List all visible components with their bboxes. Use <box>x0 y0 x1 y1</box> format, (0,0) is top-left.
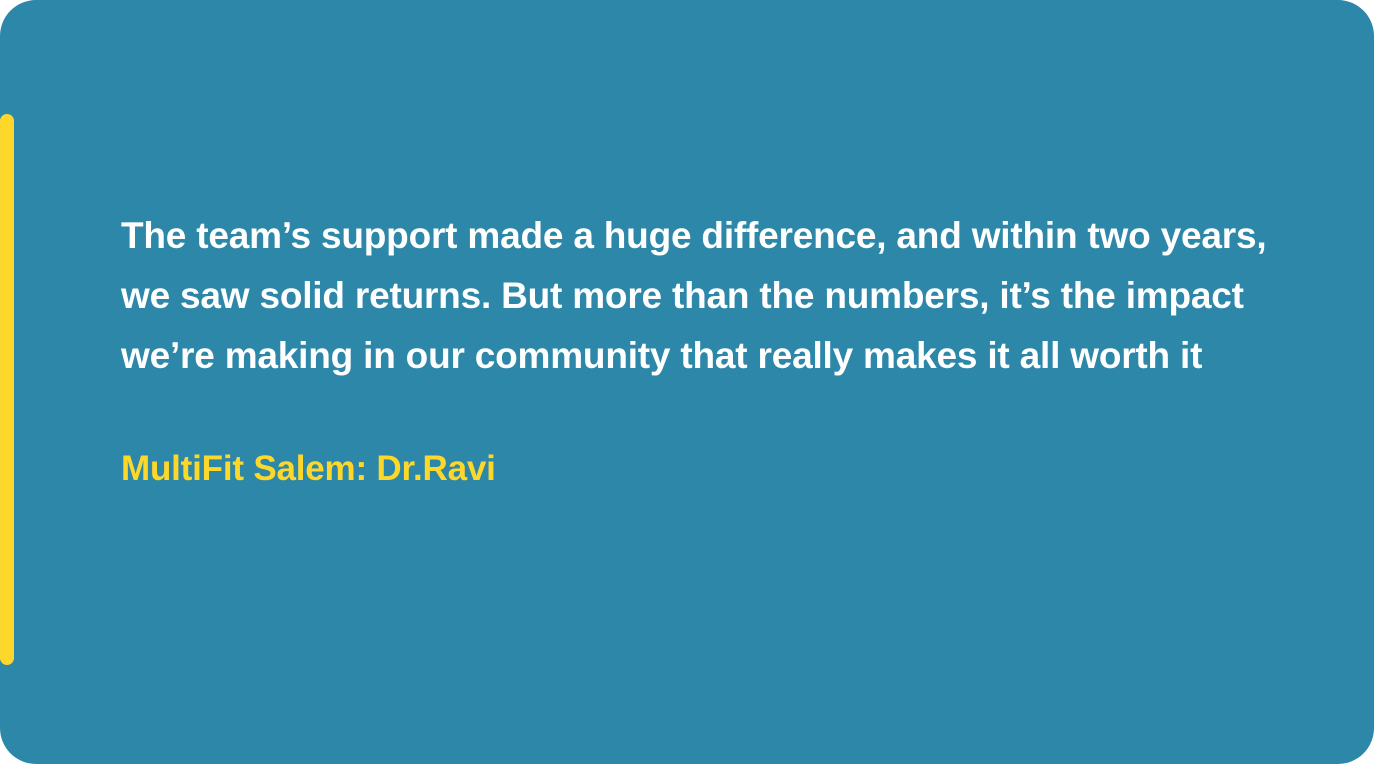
testimonial-content: The team’s support made a huge differenc… <box>121 206 1281 492</box>
testimonial-quote: The team’s support made a huge differenc… <box>121 206 1281 386</box>
left-accent-bar <box>0 114 14 665</box>
testimonial-attribution: MultiFit Salem: Dr.Ravi <box>121 446 1281 492</box>
testimonial-card: The team’s support made a huge differenc… <box>0 0 1374 764</box>
